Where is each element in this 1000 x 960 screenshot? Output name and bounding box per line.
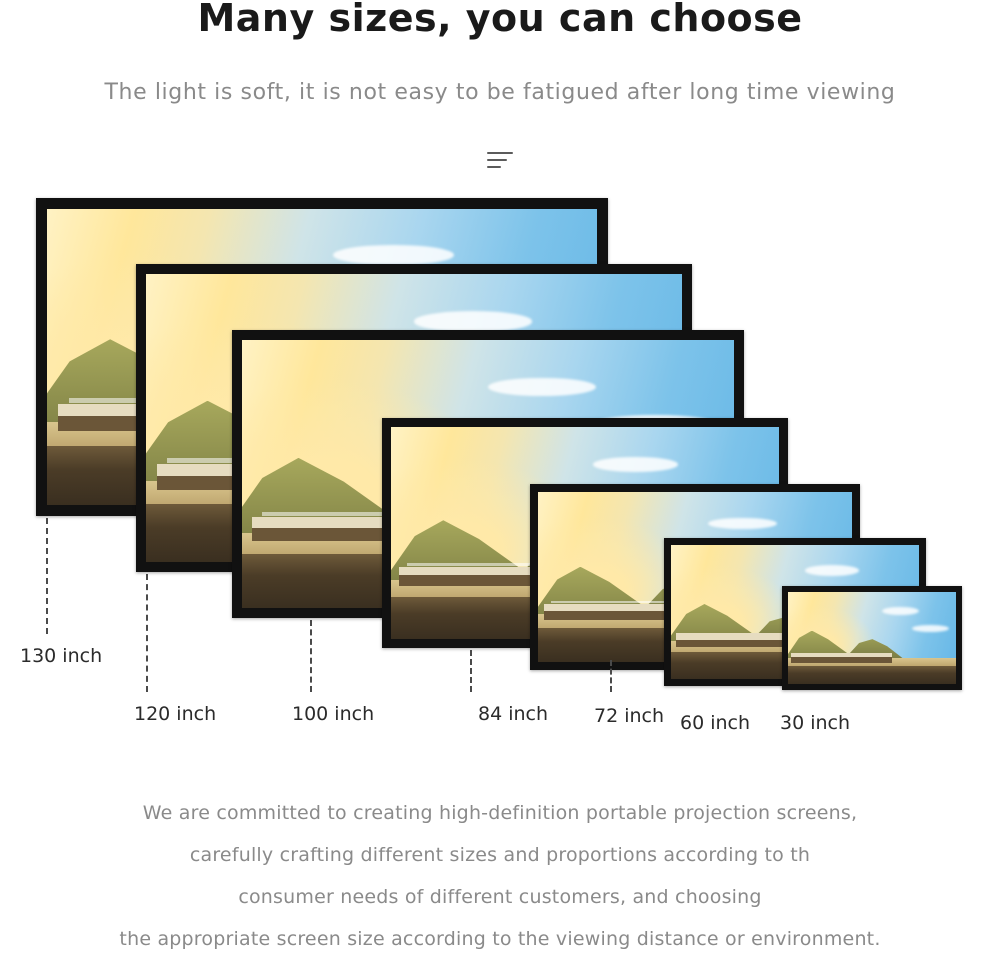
leader-line-120 <box>146 574 148 692</box>
footer-line-4: the appropriate screen size according to… <box>0 918 1000 960</box>
footer-line-2: carefully crafting different sizes and p… <box>0 834 1000 876</box>
page-subtitle: The light is soft, it is not easy to be … <box>0 80 1000 105</box>
leader-line-84 <box>470 650 472 692</box>
screen-label-60: 60 inch <box>680 712 750 734</box>
screen-label-30-text: 30 inch <box>780 712 850 734</box>
footer-line-3: consumer needs of different customers, a… <box>0 876 1000 918</box>
leader-line-130 <box>46 518 48 634</box>
screen-label-130: 130 inch <box>20 645 102 667</box>
footer-text: We are committed to creating high-defini… <box>0 792 1000 960</box>
screen-label-100-text: 100 inch <box>292 703 374 725</box>
footer-line-1: We are committed to creating high-defini… <box>0 792 1000 834</box>
screen-label-120-text: 120 inch <box>134 703 216 725</box>
screen-label-84-text: 84 inch <box>478 703 548 725</box>
screen-30 <box>782 586 962 690</box>
screen-label-72: 72 inch <box>594 705 664 727</box>
hamburger-menu-icon <box>487 152 513 174</box>
leader-line-72 <box>610 660 612 692</box>
product-promo-page: Many sizes, you can choose The light is … <box>0 0 1000 944</box>
screen-label-100: 100 inch <box>292 703 374 725</box>
screen-label-130-text: 130 inch <box>20 645 102 667</box>
screen-label-60-text: 60 inch <box>680 712 750 734</box>
screen-label-84: 84 inch <box>478 703 548 725</box>
page-title: Many sizes, you can choose <box>0 0 1000 40</box>
screen-label-120: 120 inch <box>134 703 216 725</box>
leader-line-100 <box>310 620 312 692</box>
screen-label-72-text: 72 inch <box>594 705 664 727</box>
screen-label-30: 30 inch <box>780 712 850 734</box>
screen-30-image <box>788 592 956 684</box>
